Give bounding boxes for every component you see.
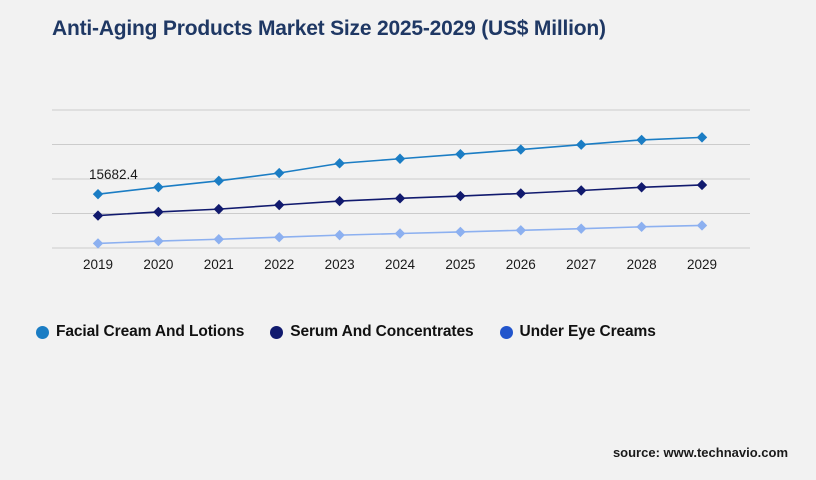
data-point-marker bbox=[697, 132, 707, 142]
data-point-marker bbox=[455, 191, 465, 201]
data-point-marker bbox=[93, 189, 103, 199]
legend-item-3[interactable]: Under Eye Creams bbox=[500, 323, 656, 341]
legend-item-2[interactable]: Serum And Concentrates bbox=[270, 323, 473, 341]
data-point-marker bbox=[214, 234, 224, 244]
chart-container: Anti-Aging Products Market Size 2025-202… bbox=[0, 0, 816, 480]
data-point-marker bbox=[395, 228, 405, 238]
x-tick-label: 2025 bbox=[445, 257, 475, 272]
series-line bbox=[98, 137, 702, 194]
data-point-marker bbox=[395, 154, 405, 164]
series-2 bbox=[93, 180, 707, 221]
x-tick-label: 2023 bbox=[325, 257, 355, 272]
x-tick-label: 2028 bbox=[627, 257, 657, 272]
series-3 bbox=[93, 220, 707, 248]
source-note: source: www.technavio.com bbox=[613, 445, 788, 460]
data-point-marker bbox=[455, 227, 465, 237]
data-point-marker bbox=[93, 238, 103, 248]
data-point-marker bbox=[516, 144, 526, 154]
data-point-marker bbox=[576, 140, 586, 150]
data-point-marker bbox=[576, 185, 586, 195]
legend-label: Serum And Concentrates bbox=[290, 323, 473, 341]
data-point-marker bbox=[334, 230, 344, 240]
x-tick-label: 2027 bbox=[566, 257, 596, 272]
x-tick-label: 2021 bbox=[204, 257, 234, 272]
data-point-marker bbox=[697, 180, 707, 190]
data-point-marker bbox=[274, 168, 284, 178]
data-point-marker bbox=[455, 149, 465, 159]
legend-marker-icon bbox=[36, 326, 49, 339]
data-point-marker bbox=[334, 158, 344, 168]
data-point-marker bbox=[697, 220, 707, 230]
data-point-marker bbox=[93, 210, 103, 220]
x-tick-label: 2026 bbox=[506, 257, 536, 272]
legend-label: Facial Cream And Lotions bbox=[56, 323, 244, 341]
data-point-marker bbox=[274, 200, 284, 210]
data-point-marker bbox=[516, 225, 526, 235]
chart-legend: Facial Cream And LotionsSerum And Concen… bbox=[36, 323, 682, 341]
data-point-label: 15682.4 bbox=[89, 167, 138, 182]
data-point-marker bbox=[214, 176, 224, 186]
x-tick-label: 2020 bbox=[143, 257, 173, 272]
data-point-marker bbox=[153, 207, 163, 217]
data-point-marker bbox=[214, 204, 224, 214]
data-point-marker bbox=[636, 135, 646, 145]
x-tick-label: 2024 bbox=[385, 257, 415, 272]
legend-label: Under Eye Creams bbox=[520, 323, 656, 341]
data-point-marker bbox=[516, 188, 526, 198]
data-point-marker bbox=[274, 232, 284, 242]
plot-area bbox=[0, 0, 816, 480]
data-point-marker bbox=[153, 182, 163, 192]
legend-item-1[interactable]: Facial Cream And Lotions bbox=[36, 323, 244, 341]
legend-marker-icon bbox=[270, 326, 283, 339]
legend-marker-icon bbox=[500, 326, 513, 339]
series-lines bbox=[93, 132, 707, 248]
data-point-marker bbox=[395, 193, 405, 203]
x-tick-label: 2019 bbox=[83, 257, 113, 272]
x-tick-label: 2029 bbox=[687, 257, 717, 272]
data-point-marker bbox=[153, 236, 163, 246]
data-point-marker bbox=[334, 196, 344, 206]
data-point-marker bbox=[576, 223, 586, 233]
x-tick-label: 2022 bbox=[264, 257, 294, 272]
data-point-marker bbox=[636, 222, 646, 232]
data-point-marker bbox=[636, 182, 646, 192]
